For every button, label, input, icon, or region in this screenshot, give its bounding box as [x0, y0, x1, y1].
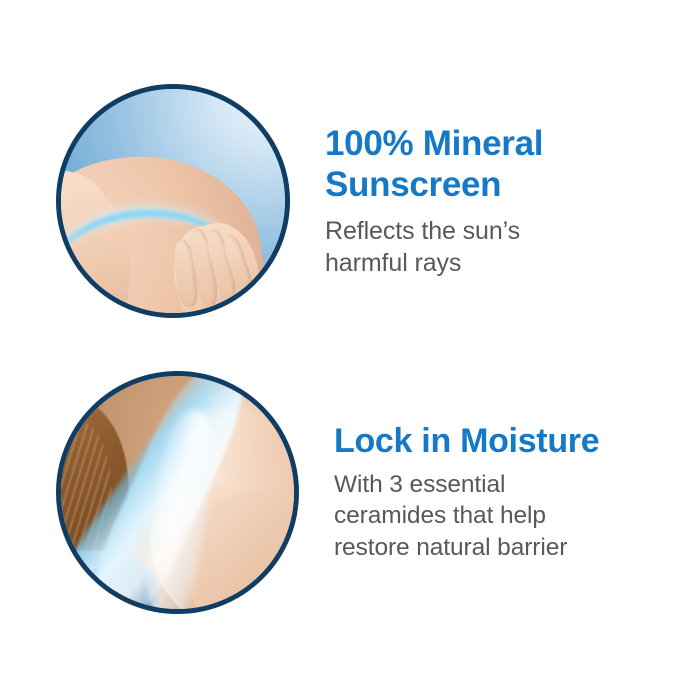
benefit-headline: Lock in Moisture [334, 421, 686, 461]
benefit-subcopy: With 3 essential ceramides that help res… [334, 469, 686, 563]
benefit-image-wrap-lock-in-moisture [56, 371, 299, 614]
benefit-copy-lock-in-moisture: Lock in Moisture With 3 essential cerami… [334, 421, 700, 563]
benefit-block-mineral-sunscreen: 100% Mineral Sunscreen Reflects the sun’… [0, 78, 700, 324]
benefit-subcopy: Reflects the sun’s harmful rays [325, 215, 686, 279]
moisture-scene [56, 371, 299, 614]
sun-ray-scene [56, 84, 290, 318]
skin-sheen [187, 405, 284, 488]
benefit-image-lock-in-moisture [56, 371, 299, 614]
benefit-copy-mineral-sunscreen: 100% Mineral Sunscreen Reflects the sun’… [325, 123, 700, 280]
benefit-headline: 100% Mineral Sunscreen [325, 123, 686, 206]
benefit-block-lock-in-moisture: Lock in Moisture With 3 essential cerami… [0, 370, 700, 614]
benefits-page: 100% Mineral Sunscreen Reflects the sun’… [0, 0, 700, 700]
benefit-image-wrap-mineral-sunscreen [56, 84, 290, 318]
benefit-image-mineral-sunscreen [56, 84, 290, 318]
